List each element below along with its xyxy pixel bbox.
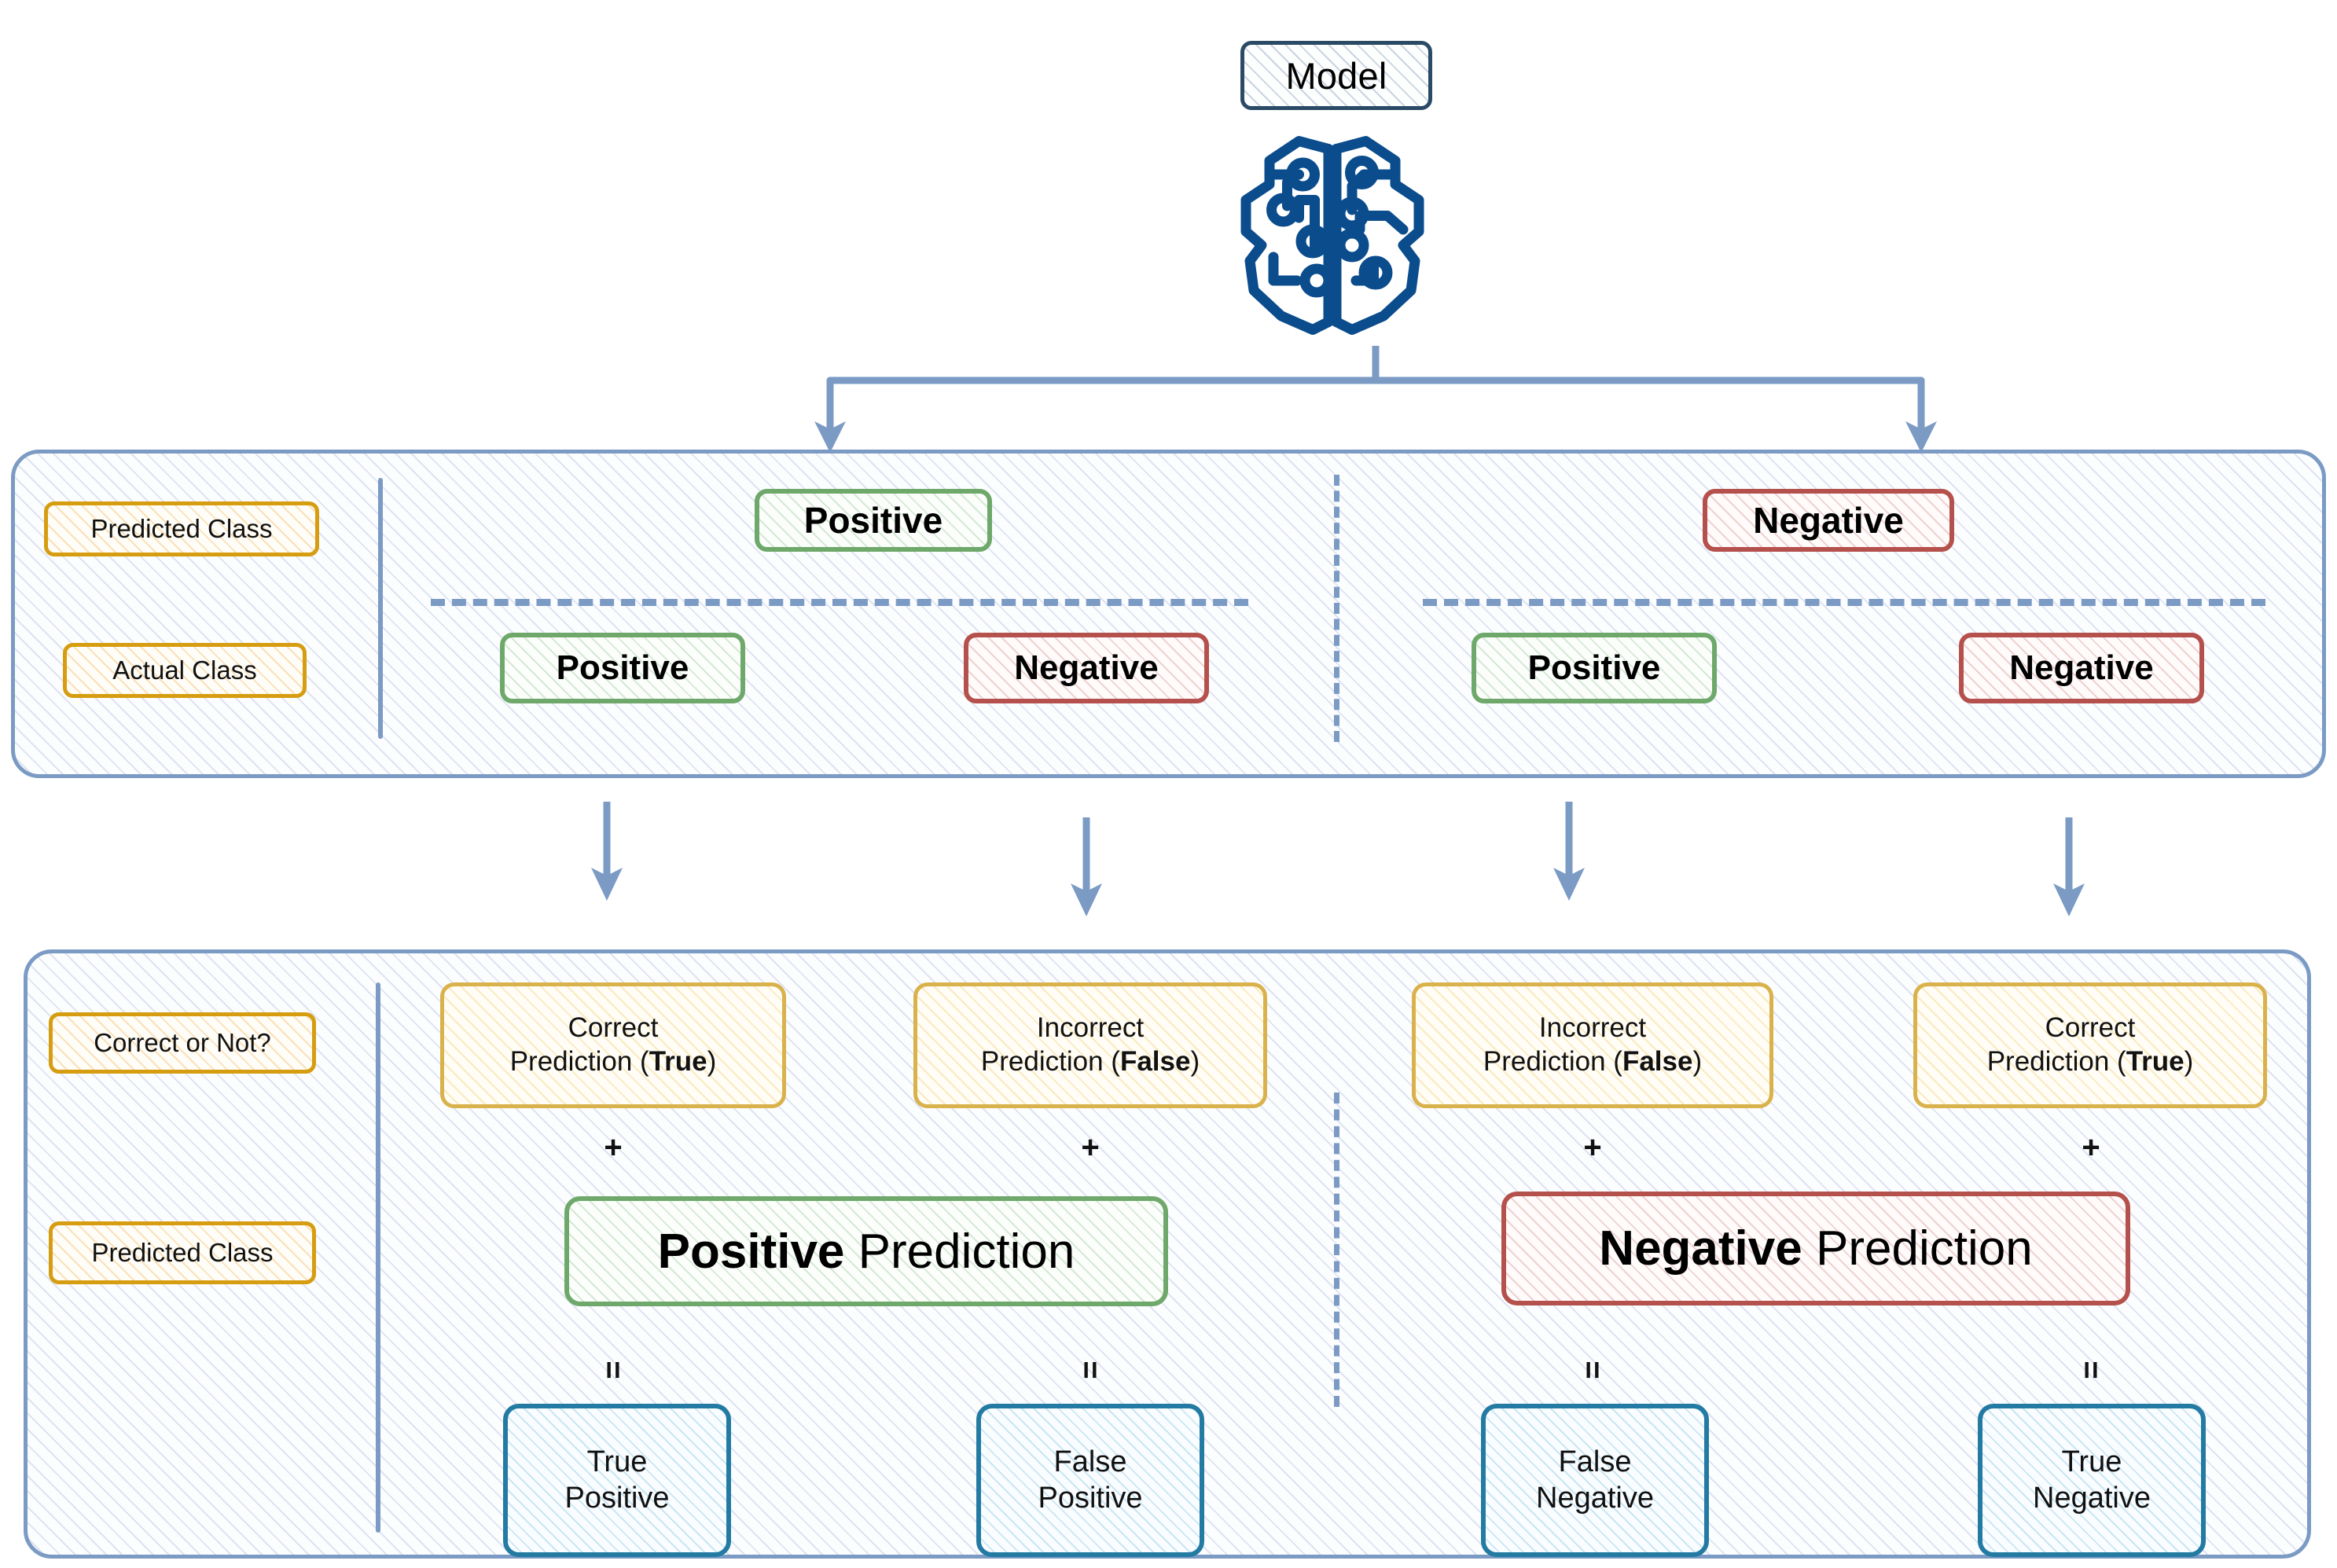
negative-prediction-box-1: Negative Prediction xyxy=(1501,1192,2130,1305)
correctness-line2-pre: Prediction ( xyxy=(1987,1046,2126,1077)
correctness-line2-pre: Prediction ( xyxy=(981,1046,1120,1077)
result-line2: Positive xyxy=(564,1482,669,1515)
model-split-arrow xyxy=(802,346,1949,456)
matrix-center-divider xyxy=(1334,475,1339,742)
equals-operator-4: = xyxy=(2071,1346,2111,1394)
model-node: Model xyxy=(1240,41,1432,110)
matrix-label-divider xyxy=(378,478,383,739)
result-line2: Negative xyxy=(2033,1482,2151,1515)
result-line2: Negative xyxy=(1536,1482,1654,1515)
positive-prediction-box-1: Positive Prediction xyxy=(564,1196,1168,1306)
arrow-to-true-negative xyxy=(2045,817,2093,920)
correctness-line2-post: ) xyxy=(707,1046,717,1077)
correctness-line1: Correct xyxy=(2045,1012,2136,1043)
prediction-bold: Positive xyxy=(658,1225,845,1279)
correctness-line2-pre: Prediction ( xyxy=(510,1046,649,1077)
prediction-rest: Prediction xyxy=(1802,1221,2033,1276)
arrow-to-true-positive xyxy=(583,802,630,904)
result-box-true-negative: True Negative xyxy=(1978,1404,2206,1557)
plus-operator-3: + xyxy=(1569,1128,1616,1167)
result-box-false-negative: False Negative xyxy=(1481,1404,1709,1557)
correctness-line2-pre: Prediction ( xyxy=(1483,1046,1622,1077)
row-label-actual-class: Actual Class xyxy=(63,643,307,698)
row-label-predicted-class-top: Predicted Class xyxy=(44,501,319,556)
predicted-negative-box: Negative xyxy=(1703,489,1954,552)
row-label-correct-or-not: Correct or Not? xyxy=(49,1012,316,1074)
arrow-to-false-negative xyxy=(1545,802,1593,904)
correctness-line2-post: ) xyxy=(1692,1046,1702,1077)
result-line1: True xyxy=(587,1445,648,1478)
correctness-line2-post: ) xyxy=(1190,1046,1200,1077)
result-box-false-positive: False Positive xyxy=(976,1404,1204,1557)
predicted-negative-underline xyxy=(1423,599,2265,606)
result-line1: False xyxy=(1559,1445,1632,1478)
equals-operator-1: = xyxy=(593,1346,633,1394)
prediction-bold: Negative xyxy=(1599,1221,1802,1276)
arrow-to-false-positive xyxy=(1063,817,1110,920)
plus-operator-4: + xyxy=(2067,1128,2115,1167)
plus-operator-1: + xyxy=(590,1128,637,1167)
result-line2: Positive xyxy=(1038,1482,1142,1515)
correctness-box-1: Correct Prediction (True) xyxy=(440,982,786,1108)
predicted-positive-underline xyxy=(431,599,1248,606)
actual-negative-box-2: Negative xyxy=(1959,633,2204,703)
result-box-true-positive: True Positive xyxy=(503,1404,731,1557)
correctness-line1: Incorrect xyxy=(1037,1012,1144,1043)
result-line1: False xyxy=(1054,1445,1127,1478)
model-label: Model xyxy=(1285,54,1387,97)
correctness-line2-post: ) xyxy=(2185,1046,2194,1077)
correctness-box-2: Incorrect Prediction (False) xyxy=(913,982,1267,1108)
correctness-line2-bold: True xyxy=(649,1046,707,1077)
correctness-line1: Correct xyxy=(568,1012,659,1043)
outcomes-center-divider xyxy=(1334,1092,1339,1407)
outcomes-label-divider xyxy=(376,982,380,1533)
actual-negative-box-1: Negative xyxy=(964,633,1209,703)
correctness-line1: Incorrect xyxy=(1539,1012,1646,1043)
row-label-predicted-class-bottom: Predicted Class xyxy=(49,1221,316,1284)
actual-positive-box-1: Positive xyxy=(500,633,745,703)
correctness-box-3: Incorrect Prediction (False) xyxy=(1412,982,1773,1108)
plus-operator-2: + xyxy=(1067,1128,1114,1167)
brain-circuit-icon xyxy=(1234,135,1431,336)
correctness-line2-bold: True xyxy=(2126,1046,2185,1077)
correctness-line2-bold: False xyxy=(1622,1046,1693,1077)
prediction-rest: Prediction xyxy=(844,1225,1075,1279)
correctness-line2-bold: False xyxy=(1120,1046,1191,1077)
result-line1: True xyxy=(2062,1445,2122,1478)
correctness-box-4: Correct Prediction (True) xyxy=(1913,982,2267,1108)
equals-operator-3: = xyxy=(1573,1346,1612,1394)
confusion-matrix-panel xyxy=(11,450,2326,778)
actual-positive-box-2: Positive xyxy=(1472,633,1717,703)
equals-operator-2: = xyxy=(1071,1346,1110,1394)
predicted-positive-box: Positive xyxy=(755,489,992,552)
